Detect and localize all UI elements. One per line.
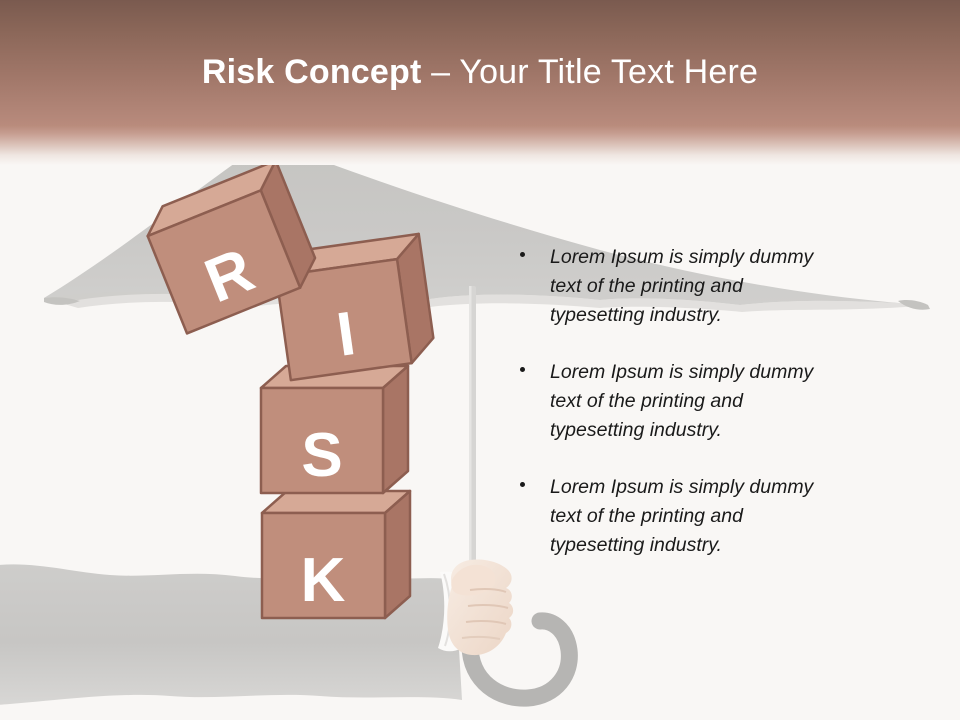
bullet-marker-icon [520, 367, 525, 372]
page-title-separator: – [422, 53, 460, 91]
list-item[interactable]: Lorem Ipsum is simply dummy text of the … [512, 473, 872, 560]
list-item[interactable]: Lorem Ipsum is simply dummy text of the … [512, 243, 872, 330]
cube-letter-k: K [301, 546, 346, 615]
slide-canvas: K S I R Lorem Ipsum is simply dummy t [0, 0, 960, 720]
cube-s: S [261, 366, 408, 493]
page-title-light: Your Title Text Here [459, 53, 758, 91]
bullet-text: Lorem Ipsum is simply dummy text of the … [550, 473, 835, 560]
umbrella-shaft-highlight [469, 286, 472, 582]
page-title-bold: Risk Concept [202, 53, 422, 91]
bullet-list: Lorem Ipsum is simply dummy text of the … [512, 243, 872, 588]
cube-letter-s: S [301, 421, 342, 490]
cube-k: K [262, 491, 410, 618]
list-item[interactable]: Lorem Ipsum is simply dummy text of the … [512, 358, 872, 445]
page-title: Risk Concept – Your Title Text Here [0, 52, 960, 92]
bullet-text: Lorem Ipsum is simply dummy text of the … [550, 243, 835, 330]
bullet-marker-icon [520, 252, 525, 257]
bullet-text: Lorem Ipsum is simply dummy text of the … [550, 358, 835, 445]
bullet-marker-icon [520, 482, 525, 487]
